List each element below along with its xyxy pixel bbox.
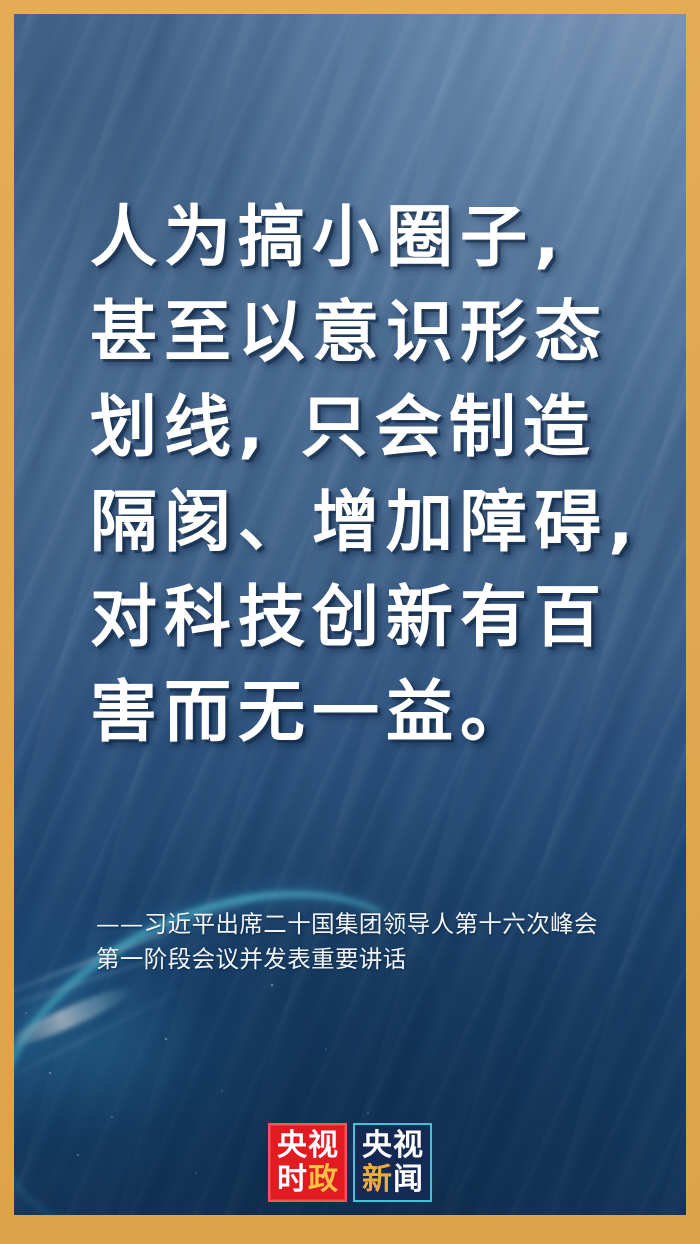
logo-char: 央: [277, 1131, 307, 1161]
logo-cctv-shizheng[interactable]: 央 视 时 政: [268, 1123, 347, 1202]
logo-cctv-xinwen[interactable]: 央 视 新 闻: [353, 1123, 432, 1202]
logo-char-accent: 新: [362, 1165, 392, 1195]
attribution-line: ——习近平出席二十国集团领导人第十六次峰会: [96, 907, 652, 942]
headline-line: 隔阂、增加障碍,: [90, 475, 670, 570]
logo-char: 央: [362, 1131, 392, 1161]
logo-row-top: 央 视: [362, 1131, 423, 1161]
logo-row: 央 视 时 政 央 视 新 闻: [14, 1123, 686, 1202]
poster-canvas: 人为搞小圈子, 甚至以意识形态 划线, 只会制造 隔阂、增加障碍, 对科技创新有…: [14, 14, 686, 1215]
logo-row-top: 央 视: [277, 1131, 338, 1161]
headline-quote: 人为搞小圈子, 甚至以意识形态 划线, 只会制造 隔阂、增加障碍, 对科技创新有…: [90, 190, 670, 760]
headline-line: 害而无一益。: [90, 665, 670, 760]
logo-char: 视: [393, 1131, 423, 1161]
attribution-line: 第一阶段会议并发表重要讲话: [96, 942, 652, 977]
logo-char-accent: 政: [308, 1165, 338, 1195]
headline-line: 人为搞小圈子,: [90, 190, 670, 285]
logo-char: 时: [277, 1165, 307, 1195]
headline-line: 甚至以意识形态: [90, 285, 670, 380]
logo-row-bottom: 新 闻: [362, 1165, 423, 1195]
poster-card: 人为搞小圈子, 甚至以意识形态 划线, 只会制造 隔阂、增加障碍, 对科技创新有…: [0, 0, 700, 1244]
headline-line: 对科技创新有百: [90, 570, 670, 665]
attribution-source: ——习近平出席二十国集团领导人第十六次峰会 第一阶段会议并发表重要讲话: [96, 907, 652, 977]
logo-char: 闻: [393, 1165, 423, 1195]
headline-line: 划线, 只会制造: [90, 380, 670, 475]
logo-row-bottom: 时 政: [277, 1165, 338, 1195]
logo-char: 视: [308, 1131, 338, 1161]
